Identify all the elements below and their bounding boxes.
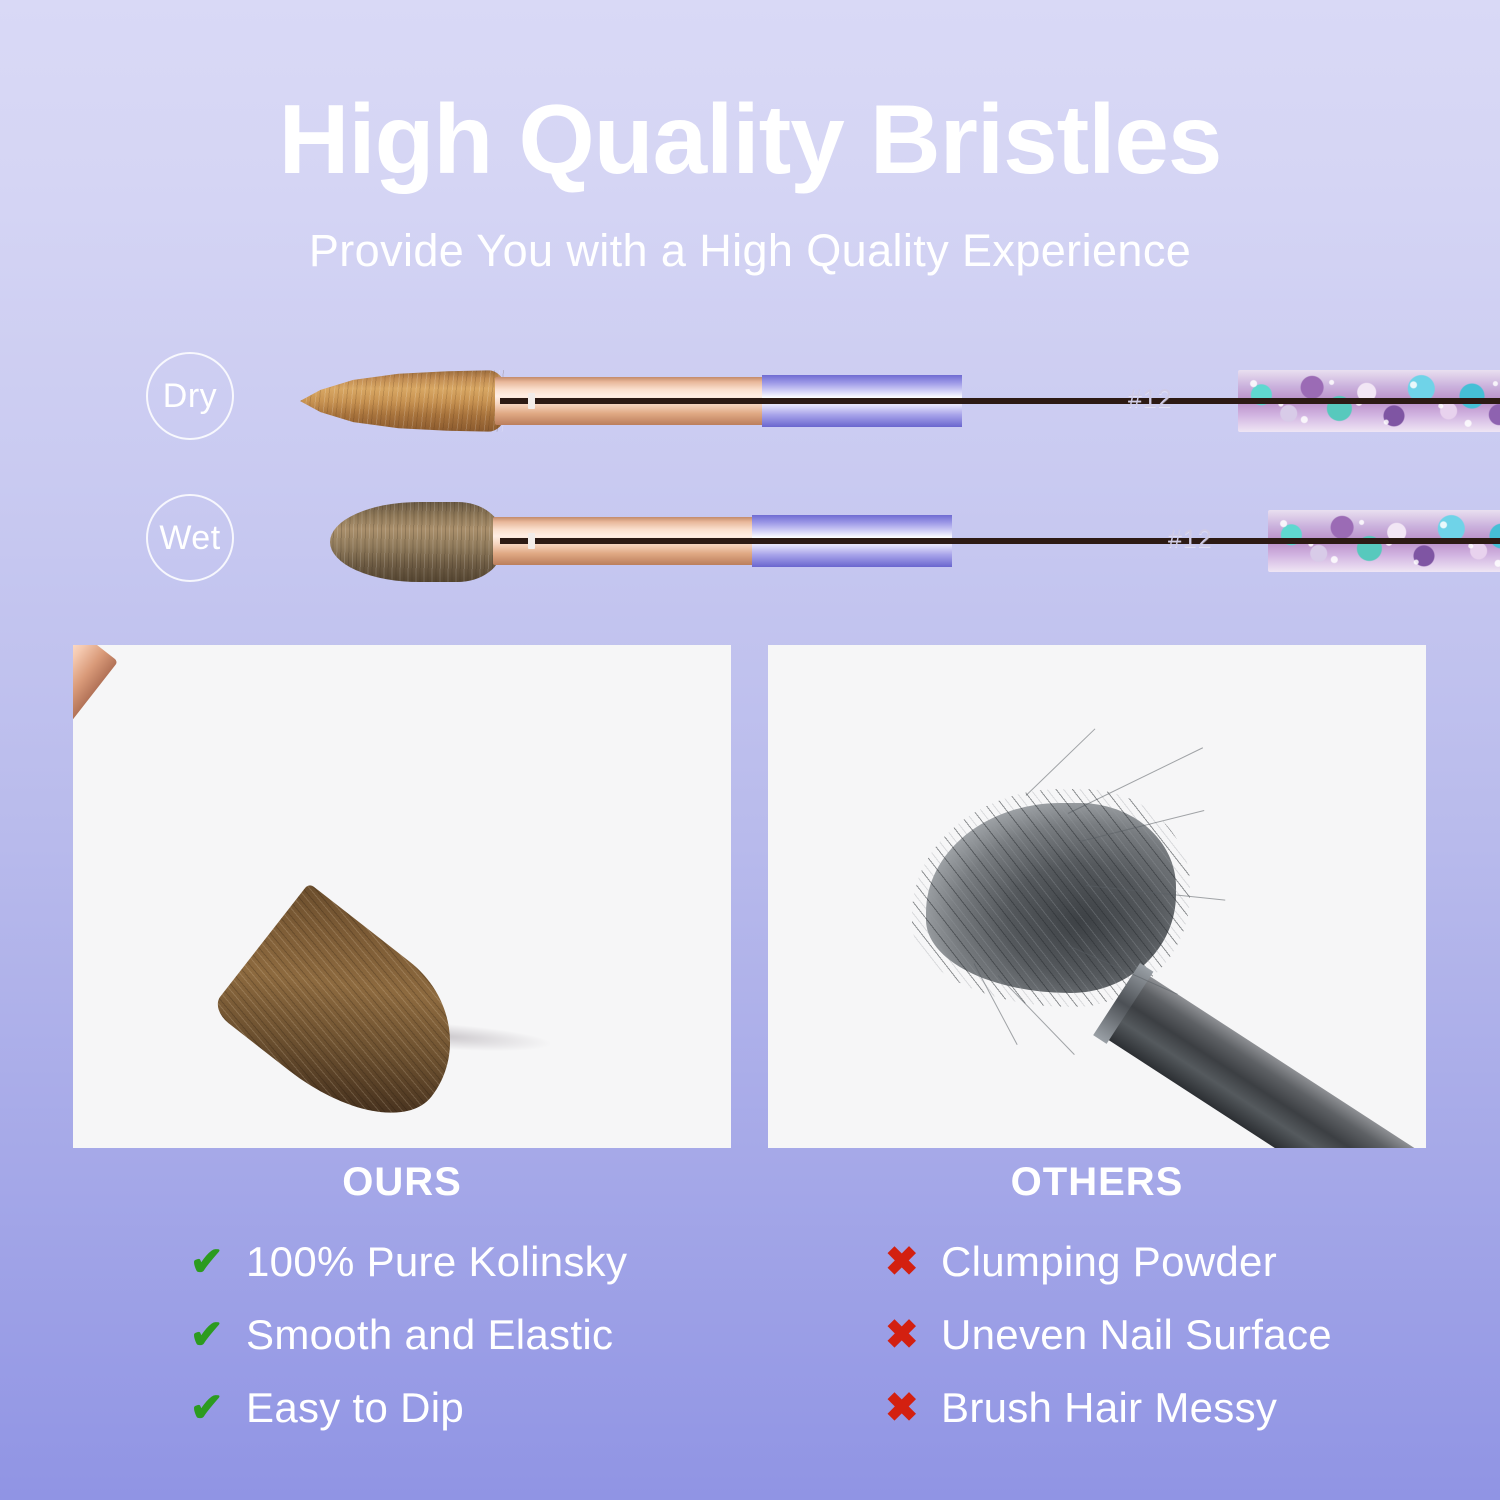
list-item: ✖ Clumping Powder bbox=[885, 1225, 1500, 1298]
crimp-notch-wet-icon bbox=[528, 533, 535, 549]
cross-icon: ✖ bbox=[885, 1388, 941, 1428]
bristle-head-wet-icon bbox=[330, 502, 502, 582]
page-subtitle: Provide You with a High Quality Experien… bbox=[0, 225, 1500, 277]
cross-icon: ✖ bbox=[885, 1242, 941, 1282]
feature-label: Easy to Dip bbox=[246, 1384, 464, 1432]
feature-label: Brush Hair Messy bbox=[941, 1384, 1277, 1432]
feature-list-ours: ✔ 100% Pure Kolinsky ✔ Smooth and Elasti… bbox=[190, 1225, 850, 1444]
list-item: ✔ 100% Pure Kolinsky bbox=[190, 1225, 850, 1298]
crimp-line-dry-icon bbox=[500, 398, 1500, 404]
list-item: ✔ Easy to Dip bbox=[190, 1371, 850, 1444]
feature-list-others: ✖ Clumping Powder ✖ Uneven Nail Surface … bbox=[885, 1225, 1500, 1444]
feature-label: Smooth and Elastic bbox=[246, 1311, 613, 1359]
feature-label: 100% Pure Kolinsky bbox=[246, 1238, 627, 1286]
bristle-head-dry-icon bbox=[300, 370, 505, 432]
list-item: ✔ Smooth and Elastic bbox=[190, 1298, 850, 1371]
feature-label: Clumping Powder bbox=[941, 1238, 1277, 1286]
state-badge-wet: Wet bbox=[146, 494, 234, 582]
crimp-line-wet-icon bbox=[500, 538, 1500, 544]
stray-hair-icon bbox=[1026, 728, 1096, 795]
page-title: High Quality Bristles bbox=[0, 88, 1500, 191]
rose-gold-handle-icon bbox=[73, 645, 118, 977]
brush-illustration-wet: #12 bbox=[330, 480, 1400, 600]
check-icon: ✔ bbox=[190, 1315, 246, 1355]
crimp-notch-dry-icon bbox=[528, 393, 535, 409]
check-icon: ✔ bbox=[190, 1242, 246, 1282]
comparison-photo-others bbox=[768, 645, 1426, 1148]
header-block: High Quality Bristles Provide You with a… bbox=[0, 88, 1500, 277]
feature-label: Uneven Nail Surface bbox=[941, 1311, 1332, 1359]
kolinsky-bristle-icon bbox=[210, 883, 488, 1148]
comparison-heading-others: OTHERS bbox=[768, 1160, 1426, 1205]
cross-icon: ✖ bbox=[885, 1315, 941, 1355]
gray-brush-shaft-icon bbox=[1107, 975, 1425, 1148]
brush-size-mark-dry: #12 bbox=[1128, 385, 1173, 414]
check-icon: ✔ bbox=[190, 1388, 246, 1428]
brush-size-mark-wet: #12 bbox=[1168, 525, 1213, 554]
state-badge-dry-label: Dry bbox=[163, 377, 217, 416]
comparison-heading-ours: OURS bbox=[73, 1160, 731, 1205]
product-infographic: High Quality Bristles Provide You with a… bbox=[0, 0, 1500, 1500]
state-badge-wet-label: Wet bbox=[159, 519, 220, 558]
brush-illustration-dry: #12 bbox=[300, 340, 1400, 460]
state-badge-dry: Dry bbox=[146, 352, 234, 440]
list-item: ✖ Brush Hair Messy bbox=[885, 1371, 1500, 1444]
list-item: ✖ Uneven Nail Surface bbox=[885, 1298, 1500, 1371]
comparison-photo-ours bbox=[73, 645, 731, 1148]
